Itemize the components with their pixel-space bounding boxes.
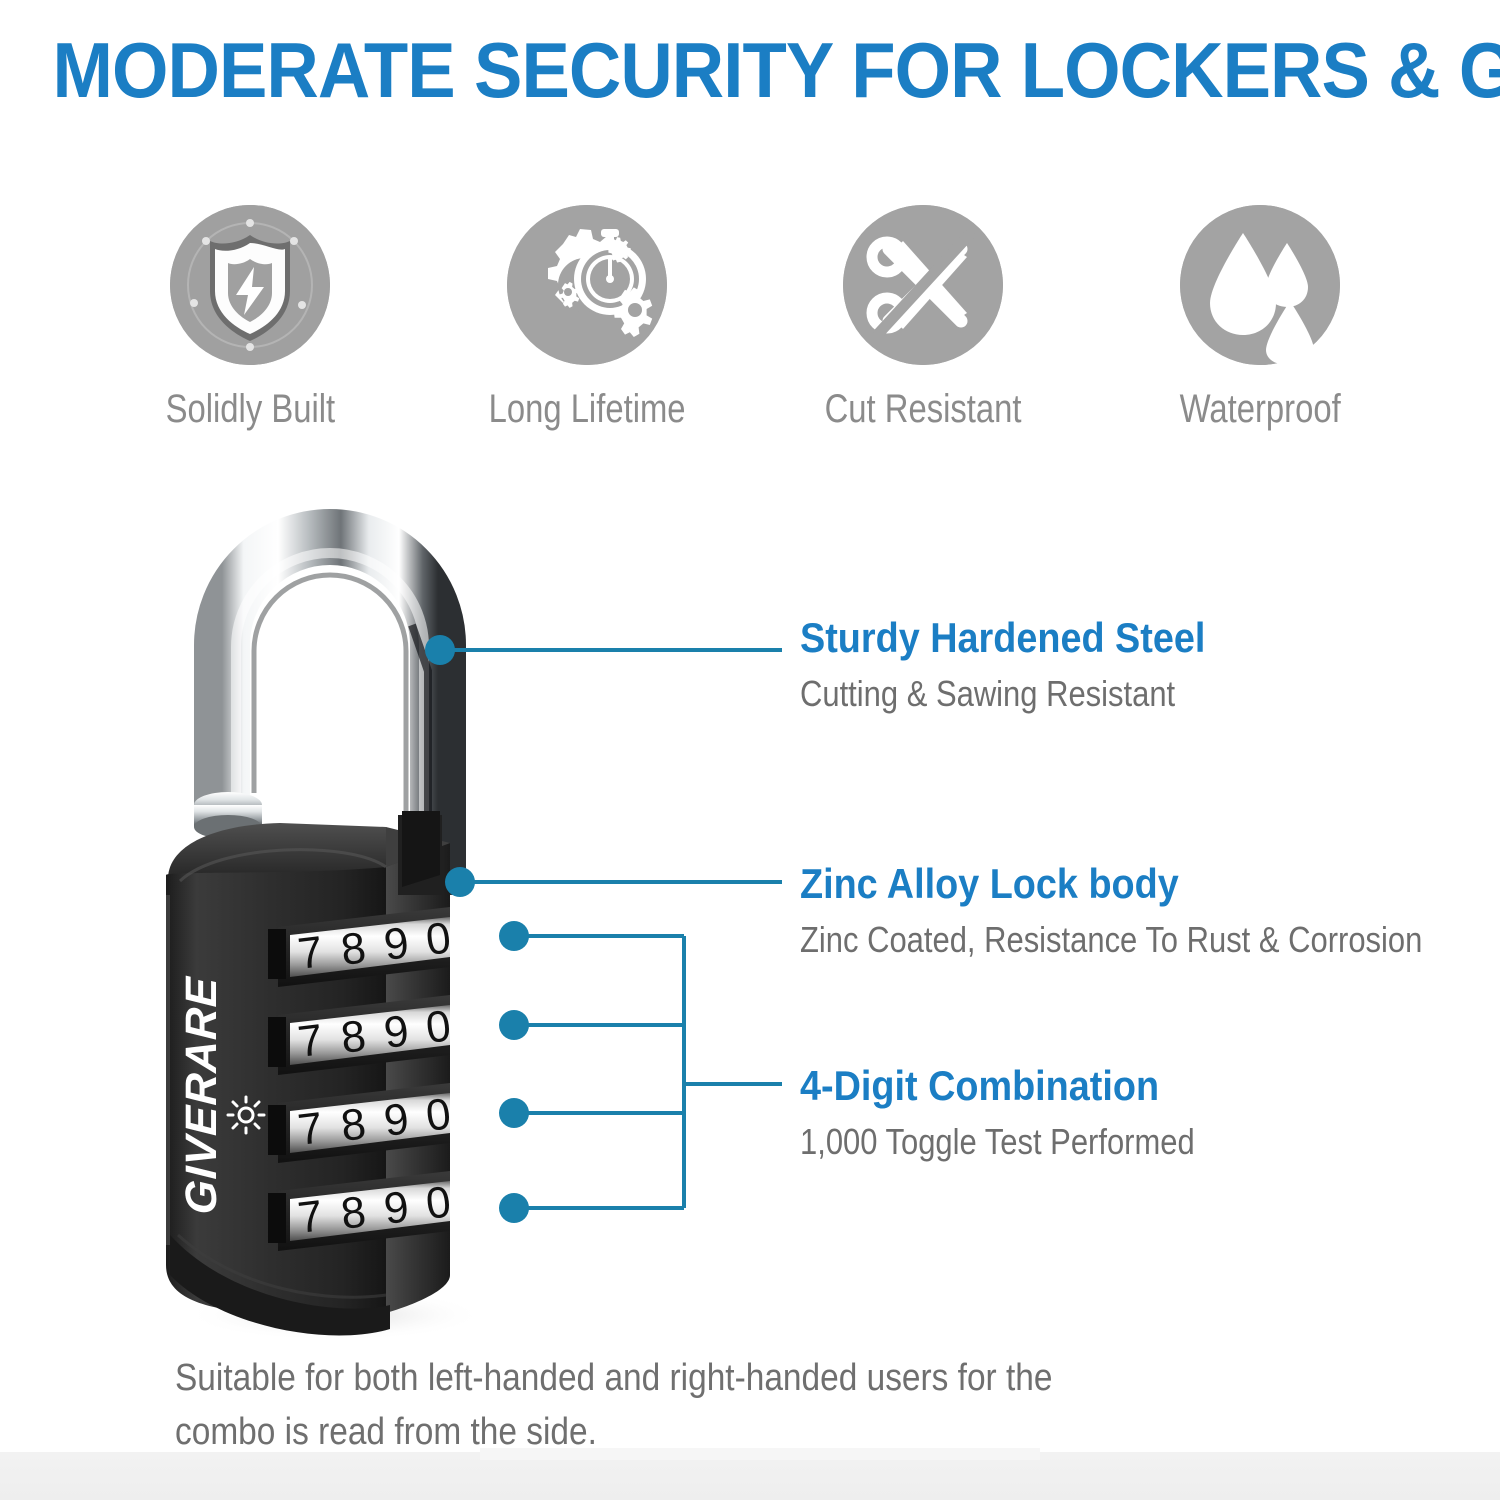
- callout-title: 4-Digit Combination: [800, 1062, 1213, 1109]
- callout-zinc-alloy-lock-body: Zinc Alloy Lock body Zinc Coated, Resist…: [800, 860, 1500, 960]
- callout-title: Sturdy Hardened Steel: [800, 614, 1205, 661]
- callout-subtitle: Zinc Coated, Resistance To Rust & Corros…: [800, 919, 1422, 960]
- bottom-band-highlight: [480, 1448, 1040, 1460]
- shield-bolt-glyph: [170, 205, 330, 365]
- shield-bolt-icon: [170, 205, 330, 365]
- feature-label: Solidly Built: [165, 387, 335, 432]
- page-title: MODERATE SECURITY FOR LOCKERS & GATES: [53, 30, 1448, 112]
- brand-logo-text: GIVERARE: [177, 975, 226, 1216]
- infographic-page: MODERATE SECURITY FOR LOCKERS & GATES: [0, 0, 1500, 1500]
- callout-subtitle: Cutting & Sawing Resistant: [800, 673, 1187, 714]
- feature-item-waterproof: Waterproof: [1100, 205, 1420, 432]
- feature-item-solidly-built: Solidly Built: [90, 205, 410, 432]
- callout-sturdy-hardened-steel: Sturdy Hardened Steel Cutting & Sawing R…: [800, 614, 1250, 714]
- callout-title: Zinc Alloy Lock body: [800, 860, 1451, 907]
- callout-4-digit-combination: 4-Digit Combination 1,000 Toggle Test Pe…: [800, 1062, 1259, 1162]
- callout-subtitle: 1,000 Toggle Test Performed: [800, 1121, 1195, 1162]
- water-drops-icon: [1180, 205, 1340, 365]
- bottom-band: [0, 1452, 1500, 1500]
- feature-label: Long Lifetime: [488, 387, 685, 432]
- water-drops-glyph: [1180, 205, 1340, 365]
- feature-item-long-lifetime: Long Lifetime: [427, 205, 747, 432]
- feature-label: Cut Resistant: [825, 387, 1022, 432]
- gears-stopwatch-glyph: [507, 205, 667, 365]
- gears-stopwatch-icon: [507, 205, 667, 365]
- scissors-no-cut-icon: [843, 205, 1003, 365]
- feature-label: Waterproof: [1179, 387, 1340, 432]
- product-image-padlock: GIVERARE 7 8 9 0: [150, 475, 550, 1345]
- bottom-caption: Suitable for both left-handed and right-…: [175, 1352, 1099, 1460]
- feature-item-cut-resistant: Cut Resistant: [763, 205, 1083, 432]
- scissors-no-cut-glyph: [843, 205, 1003, 365]
- feature-badge-row: Solidly Built: [90, 205, 1420, 455]
- padlock-illustration: GIVERARE 7 8 9 0: [150, 475, 550, 1355]
